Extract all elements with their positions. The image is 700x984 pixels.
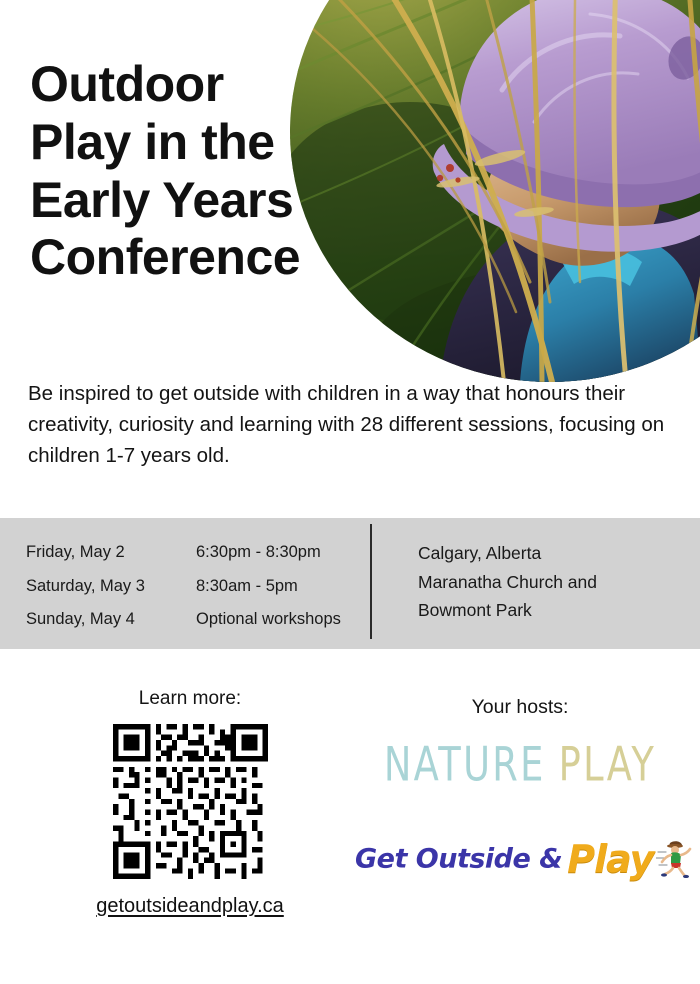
schedule-list: Friday, May 2 6:30pm - 8:30pm Saturday, …	[26, 544, 341, 628]
page-title: Outdoor Play in the Early Years Conferen…	[30, 56, 390, 287]
title-line: Conference	[30, 229, 390, 287]
get-outside-play-logo: Get Outside &Play	[355, 837, 692, 881]
hosts-label: Your hosts:	[355, 696, 685, 719]
gop-word-get-outside: Get Outside &	[355, 844, 562, 875]
schedule-day: Friday, May 2	[26, 544, 196, 561]
website-link[interactable]: getoutsideandplay.ca	[96, 895, 284, 918]
nature-play-word-play: PLAY	[559, 738, 657, 792]
venue-block: Calgary, Alberta Maranatha Church and Bo…	[418, 539, 668, 625]
schedule-day: Saturday, May 3	[26, 578, 196, 595]
venue-line: Bowmont Park	[418, 596, 668, 625]
qr-code-icon[interactable]	[113, 724, 268, 879]
learn-more-section: Learn more:	[20, 688, 360, 918]
gop-word-play: Play	[567, 837, 653, 881]
venue-line: Maranatha Church and	[418, 568, 668, 597]
nature-play-word-nature: NATURE	[384, 738, 546, 792]
title-line: Play in the	[30, 114, 390, 172]
schedule-day: Sunday, May 4	[26, 611, 196, 628]
learn-more-label: Learn more:	[20, 688, 360, 710]
running-child-mascot-icon	[656, 840, 692, 878]
nature-play-logo: NATUREPLAY	[368, 741, 672, 788]
schedule-time: 8:30am - 5pm	[196, 578, 341, 595]
title-line: Early Years	[30, 172, 390, 230]
schedule-time: Optional workshops	[196, 611, 341, 628]
hosts-section: Your hosts: NATUREPLAY Get Outside &Play	[355, 696, 685, 881]
schedule-time: 6:30pm - 8:30pm	[196, 544, 341, 561]
intro-paragraph: Be inspired to get outside with children…	[28, 378, 668, 471]
venue-line: Calgary, Alberta	[418, 539, 668, 568]
title-line: Outdoor	[30, 56, 390, 114]
poster-canvas: Outdoor Play in the Early Years Conferen…	[0, 0, 700, 984]
band-divider	[370, 524, 372, 639]
